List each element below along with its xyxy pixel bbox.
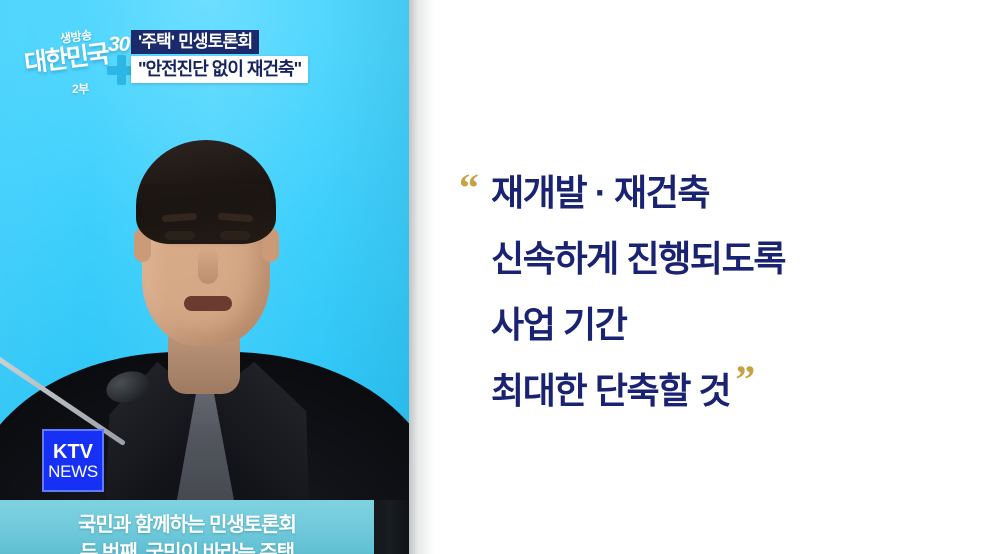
podium-banner-line-2: 두 번째, 국민이 바라는 주택 (0, 536, 374, 554)
quote-line-text: 사업 기간 (491, 304, 626, 345)
speaker-hair (136, 140, 276, 244)
video-feed-panel: 생방송 대한민국 30 2부 '주택' 민생토론회 "안전진단 없이 재건축" … (0, 0, 409, 554)
speaker-nose (198, 246, 218, 284)
channel-logo-line-2: NEWS (48, 463, 98, 480)
podium-banner-line-1: 국민과 함께하는 민생토론회 (0, 508, 374, 537)
headline-topic: '주택' 민생토론회 (131, 30, 259, 54)
pull-quote: “ 재개발 · 재건축 신속하게 진행되도록 사업 기간 최대한 단축할 것” (461, 160, 971, 424)
channel-logo-line-1: KTV (53, 442, 93, 462)
quote-line: 사업 기간 (461, 292, 971, 358)
speaker-eye-right (220, 231, 250, 240)
program-logo-number: 30 (108, 33, 129, 57)
program-logo: 생방송 대한민국 30 2부 (24, 26, 144, 98)
quote-line-text: 재개발 · 재건축 (491, 172, 709, 213)
quote-line: 재개발 · 재건축 (461, 160, 971, 226)
podium-banner: 국민과 함께하는 민생토론회 두 번째, 국민이 바라는 주택 (0, 500, 374, 554)
headline-block: '주택' 민생토론회 "안전진단 없이 재건축" (131, 30, 308, 83)
quote-line: 최대한 단축할 것” (461, 358, 971, 424)
program-logo-part-label: 2부 (72, 80, 89, 97)
channel-logo-ktv-news: KTV NEWS (42, 429, 104, 492)
speaker-mouth (184, 296, 232, 311)
headline-subject: "안전진단 없이 재건축" (131, 56, 308, 83)
broadcast-frame: 생방송 대한민국 30 2부 '주택' 민생토론회 "안전진단 없이 재건축" … (0, 0, 985, 554)
quote-line-text: 최대한 단축할 것 (491, 370, 730, 411)
quote-line-text: 신속하게 진행되도록 (491, 238, 785, 279)
speaker-eye-left (165, 231, 195, 240)
program-logo-main-label: 대한민국 (22, 34, 110, 80)
podium-shadow (374, 500, 409, 554)
quote-panel: “ 재개발 · 재건축 신속하게 진행되도록 사업 기간 최대한 단축할 것” (409, 0, 985, 554)
quote-line: 신속하게 진행되도록 (461, 226, 971, 292)
